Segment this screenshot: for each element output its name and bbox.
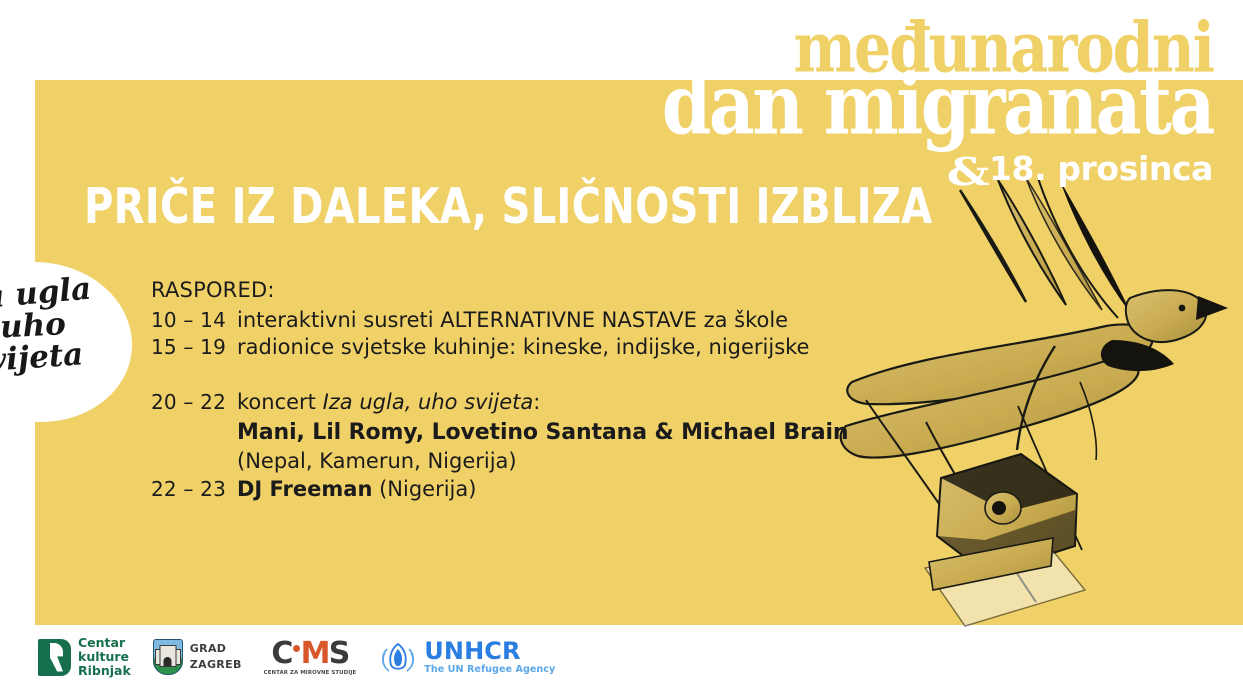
sticker-badge-text: za ugla uho svijeta [0,278,114,375]
dj-desc: DJ Freeman (Nigerija) [237,477,476,501]
schedule-row-time: 10 – 14 [151,308,237,332]
logo-unhcr: UNHCR The UN Refugee Agency [378,639,555,675]
schedule-row-desc: interaktivni susreti ALTERNATIVNE NASTAV… [237,308,788,332]
unhcr-logo-text: UNHCR The UN Refugee Agency [424,639,555,675]
schedule-row-concert: 20 – 22 koncert Iza ugla, uho svijeta: [151,390,871,414]
schedule-spacer [151,362,871,390]
logo-cms: C M S CENTAR ZA MIROVNE STUDIJE [264,639,357,676]
zagreb-line-2: ZAGREB [190,657,242,674]
badge-line-3: svijeta [0,337,113,381]
page-title: PRIČE IZ DALEKA, SLIČNOSTI IZBLIZA [84,182,932,231]
ribnjak-line-2: kulture [78,650,131,664]
zagreb-tower-center [159,645,176,667]
zagreb-logo-text: GRAD ZAGREB [190,641,242,674]
ribnjak-line-1: Centar [78,636,131,650]
logo-bar: Centar kulture Ribnjak GRAD ZAGREB C M S [38,636,555,678]
cms-letter-m: M [301,639,329,669]
schedule-block: RASPORED: 10 – 14 interaktivni susreti A… [151,278,871,504]
concert-desc: koncert Iza ugla, uho svijeta: [237,390,540,414]
concert-title: Iza ugla, uho svijeta [323,390,534,414]
concert-performers: Mani, Lil Romy, Lovetino Santana & Micha… [237,420,871,445]
unhcr-emblem-icon [378,639,418,675]
schedule-row: 10 – 14 interaktivni susreti ALTERNATIVN… [151,308,871,332]
schedule-row-dj: 22 – 23 DJ Freeman (Nigerija) [151,477,871,501]
schedule-row-desc: radionice svjetske kuhinje: kineske, ind… [237,335,809,359]
ribnjak-logo-text: Centar kulture Ribnjak [78,636,131,678]
schedule-row-time: 15 – 19 [151,335,237,359]
unhcr-tagline: The UN Refugee Agency [424,665,555,675]
cms-dot-icon [293,645,300,652]
concert-time: 20 – 22 [151,390,237,414]
schedule-heading: RASPORED: [151,278,871,302]
cms-logo-icon: C M S [271,639,348,669]
unhcr-name: UNHCR [424,639,555,663]
cms-letter-s: S [329,639,349,669]
masthead-line-1: međunarodni [653,20,1213,76]
schedule-row: 15 – 19 radionice svjetske kuhinje: kine… [151,335,871,359]
zagreb-coat-of-arms-icon [153,639,183,675]
cms-letter-c: C [271,639,291,669]
concert-suffix: : [533,390,540,414]
logo-centar-kulture-ribnjak: Centar kulture Ribnjak [38,636,131,678]
concert-origins: (Nepal, Kamerun, Nigerija) [237,449,871,473]
ribnjak-logo-icon [38,639,71,676]
dj-time: 22 – 23 [151,477,237,501]
dj-name: DJ Freeman [237,477,372,501]
ribnjak-line-3: Ribnjak [78,664,131,678]
concert-prefix: koncert [237,390,323,414]
cms-subtitle: CENTAR ZA MIROVNE STUDIJE [264,670,357,676]
zagreb-line-1: GRAD [190,641,242,658]
logo-grad-zagreb: GRAD ZAGREB [153,639,242,675]
dj-origin: (Nigerija) [379,477,476,501]
poster-canvas: međunarodni dan migranata &18. prosinca … [0,0,1243,700]
